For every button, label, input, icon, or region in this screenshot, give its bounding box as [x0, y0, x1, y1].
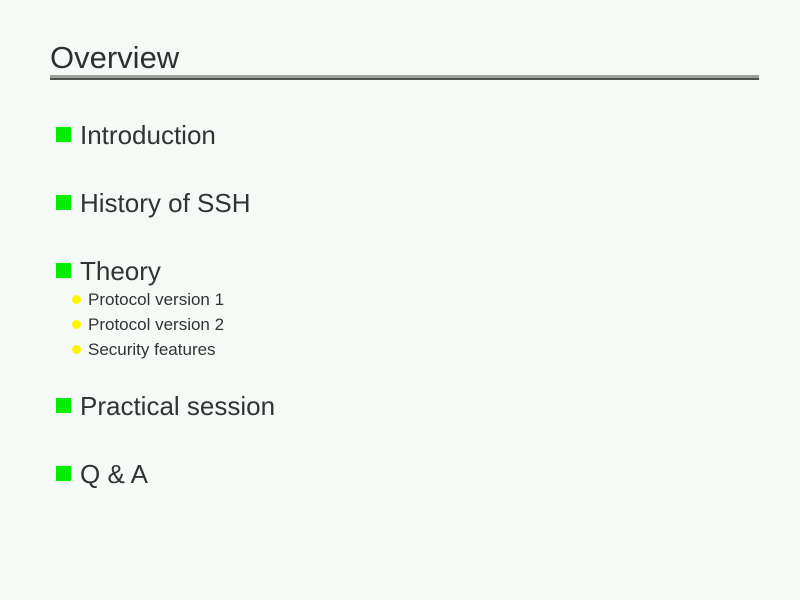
list-item-label: Theory — [80, 258, 161, 284]
square-bullet-icon — [56, 263, 71, 278]
list-item-label: Protocol version 1 — [88, 291, 224, 308]
square-bullet-icon — [56, 195, 71, 210]
dot-bullet-icon — [72, 320, 81, 329]
list-item-label: Introduction — [80, 122, 216, 148]
list-item: Security features — [72, 341, 216, 358]
square-bullet-icon — [56, 398, 71, 413]
list-item: Protocol version 1 — [72, 291, 224, 308]
list-item: Q & A — [56, 461, 148, 487]
dot-bullet-icon — [72, 295, 81, 304]
list-item: Theory — [56, 258, 161, 284]
list-item: Introduction — [56, 122, 216, 148]
list-item-label: Practical session — [80, 393, 275, 419]
list-item-label: Protocol version 2 — [88, 316, 224, 333]
list-item-label: History of SSH — [80, 190, 251, 216]
slide-canvas: Overview IntroductionHistory of SSHTheor… — [0, 0, 800, 600]
list-item: History of SSH — [56, 190, 251, 216]
list-item: Protocol version 2 — [72, 316, 224, 333]
square-bullet-icon — [56, 466, 71, 481]
outline-bullet-list: IntroductionHistory of SSHTheoryProtocol… — [0, 0, 800, 600]
list-item: Practical session — [56, 393, 275, 419]
square-bullet-icon — [56, 127, 71, 142]
list-item-label: Q & A — [80, 461, 148, 487]
list-item-label: Security features — [88, 341, 216, 358]
dot-bullet-icon — [72, 345, 81, 354]
